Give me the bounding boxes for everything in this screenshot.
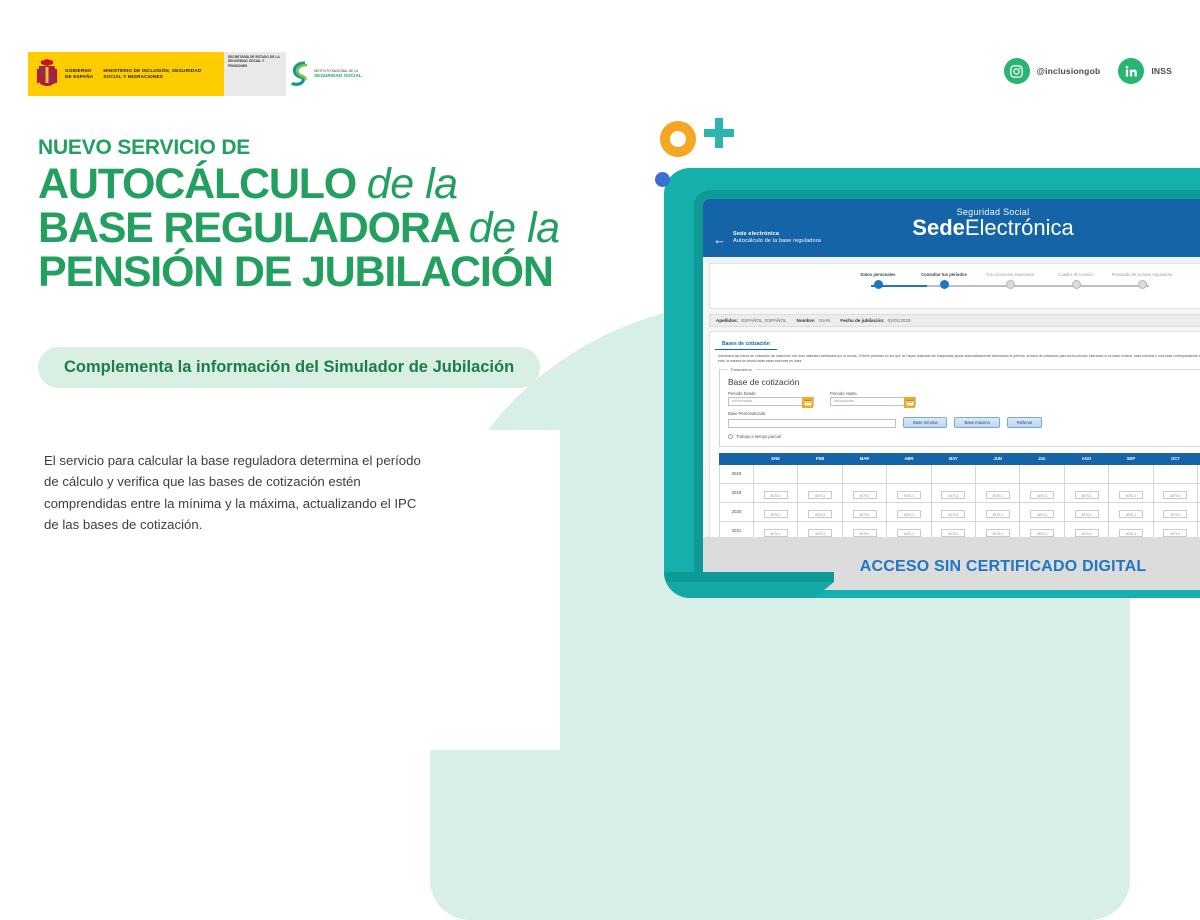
rellenar-button[interactable]: Rellenar — [1007, 417, 1043, 428]
column-header-abr: ABR — [887, 453, 931, 464]
base-amount-input[interactable]: 4070,1 — [808, 529, 832, 537]
column-header-jun: JUN — [976, 453, 1020, 464]
base-personalizada-group: Base Personalizada Base mínima Base máxi… — [728, 411, 1200, 428]
footer-banner-text: ACCESO SIN CERTIFICADO DIGITAL — [860, 558, 1147, 576]
app-header: Seguridad Social SedeElectrónica ← Sede … — [703, 199, 1200, 257]
table-cell-month[interactable]: 4070,1 — [798, 483, 842, 502]
base-amount-input[interactable]: 4070,1 — [897, 529, 921, 537]
breadcrumb-text: Sede electrónica Autocálculo de la base … — [733, 231, 821, 244]
base-amount-input[interactable]: 4070,1 — [897, 510, 921, 518]
base-amount-input[interactable]: 4070,1 — [1030, 510, 1054, 518]
table-cell-month[interactable] — [1109, 464, 1153, 483]
column-header-jul: JUL — [1020, 453, 1064, 464]
periodo-desde-group: Periodo Desde dd/mm/aaaa — [728, 391, 814, 406]
tiempo-parcial-label: Trabajo a tiempo parcial — [736, 434, 781, 439]
headline-2-bold: BASE REGULADORA — [38, 204, 458, 252]
table-cell-month[interactable]: 4070,1 — [842, 502, 886, 521]
brand-electronica: Electrónica — [965, 215, 1074, 240]
step-label-1[interactable]: Consultar tus periodos — [911, 272, 977, 277]
base-amount-input[interactable]: 4070,1 — [853, 510, 877, 518]
base-personalizada-label: Base Personalizada — [728, 411, 1200, 416]
headline-3-bold: PENSIÓN DE JUBILACIÓN — [38, 248, 553, 296]
gov-logo-yellow-block: GOBIERNO DE ESPAÑA MINISTERIO DE INCLUSI… — [28, 52, 224, 96]
periodo-hasta-group: Periodo Hasta dd/mm/aaaa — [830, 391, 916, 406]
column-header-oct: OCT — [1153, 453, 1197, 464]
stepper-dot-slot-4 — [1109, 280, 1175, 289]
base-amount-input[interactable]: 4070,1 — [853, 529, 877, 537]
base-amount-input[interactable]: 4070,1 — [1119, 491, 1143, 499]
laptop-mockup: Seguridad Social SedeElectrónica ← Sede … — [664, 168, 1200, 598]
table-cell-month[interactable]: 4070,1 — [931, 502, 975, 521]
column-header-ene: ENE — [754, 453, 798, 464]
table-cell-month[interactable]: 4070,1 — [1109, 502, 1153, 521]
breadcrumb[interactable]: ← Sede electrónica Autocálculo de la bas… — [713, 231, 821, 246]
gov-line-2: DE ESPAÑA — [65, 74, 93, 80]
bases-cotizacion-section: Bases de cotización Introduzca las bases… — [709, 331, 1200, 566]
step-dot-2[interactable] — [1006, 280, 1015, 289]
headline-1-bold: AUTOCÁLCULO — [38, 160, 356, 208]
step-label-4[interactable]: Resultado de tu base reguladora — [1109, 272, 1175, 277]
seguridad-social-mark-icon — [289, 61, 311, 87]
instagram-icon[interactable] — [1004, 58, 1030, 84]
laptop-base-bottom — [664, 582, 834, 598]
linkedin-handle: INSS — [1151, 66, 1172, 76]
table-cell-month[interactable]: 4070,1 — [1064, 483, 1108, 502]
bases-table-head: ENE FEB MAR ABR MAY JUN JUL AGO SEP OC — [720, 453, 1200, 464]
app-body: Datos personales Consultar tus periodos … — [703, 263, 1200, 590]
calendar-icon[interactable] — [904, 397, 915, 408]
date-range-row: Periodo Desde dd/mm/aaaa — [728, 391, 1200, 406]
breadcrumb-level-1: Sede electrónica — [733, 231, 821, 237]
base-personalizada-row: Base mínima Base máxima Rellenar — [728, 417, 1200, 428]
column-header-mar: MAR — [842, 453, 886, 464]
table-cell-month[interactable]: 4070,1 — [976, 502, 1020, 521]
column-header-may: MAY — [931, 453, 975, 464]
base-cotizacion-fieldset: Parámetros Base de cotización Periodo De… — [719, 367, 1200, 447]
base-amount-input[interactable]: 4070,1 — [1075, 491, 1099, 499]
table-cell-month[interactable] — [1153, 464, 1197, 483]
fecha-value: 01/01/2023 — [888, 318, 911, 323]
calendar-icon[interactable] — [802, 397, 813, 408]
laptop-lid: Seguridad Social SedeElectrónica ← Sede … — [664, 168, 1200, 598]
table-cell-month[interactable]: 4070,1 — [1020, 483, 1064, 502]
periodo-hasta-label: Periodo Hasta — [830, 391, 916, 396]
table-row: 20194070,14070,14070,14070,14070,14070,1… — [720, 483, 1200, 502]
laptop-base-top — [664, 572, 834, 582]
blue-dot-decoration — [655, 172, 670, 187]
base-amount-input[interactable]: 4070,1 — [808, 510, 832, 518]
laptop-bezel: Seguridad Social SedeElectrónica ← Sede … — [694, 190, 1200, 590]
brand-big-text: SedeElectrónica — [868, 216, 1118, 240]
table-cell-month[interactable]: 4070,1 — [1153, 483, 1197, 502]
periodo-desde-input[interactable]: dd/mm/aaaa — [728, 397, 814, 406]
step-dot-3[interactable] — [1072, 280, 1081, 289]
stepper-dots — [845, 280, 1175, 289]
column-header-sep: SEP — [1109, 453, 1153, 464]
step-label-3[interactable]: Cuadro de revisión — [1043, 272, 1109, 277]
stepper-track — [845, 280, 1175, 292]
stepper-labels: Datos personales Consultar tus periodos … — [845, 272, 1175, 277]
column-header-feb: FEB — [798, 453, 842, 464]
section-title: Bases de cotización — [715, 338, 777, 350]
breadcrumb-level-2: Autocálculo de la base reguladora — [733, 238, 821, 244]
instagram-handle: @inclusiongob — [1037, 66, 1101, 76]
ss-name-text: SEGURIDAD SOCIAL — [314, 73, 362, 79]
laptop-base — [664, 572, 834, 598]
base-amount-input[interactable]: 4070,1 — [941, 510, 965, 518]
fieldset-legend: Parámetros — [728, 367, 755, 372]
table-row: 20204070,14070,14070,14070,14070,14070,1… — [720, 502, 1200, 521]
stepper-dot-slot-0 — [845, 280, 911, 289]
periodo-desde-label: Periodo Desde — [728, 391, 814, 396]
table-cell-month[interactable] — [754, 464, 798, 483]
base-amount-input[interactable]: 4070,1 — [1075, 529, 1099, 537]
base-amount-input[interactable]: 4070,1 — [941, 529, 965, 537]
table-cell-month[interactable]: 4070,1 — [1064, 502, 1108, 521]
base-minima-button[interactable]: Base mínima — [903, 417, 947, 428]
fecha-label: Fecha de jubilación: — [840, 318, 884, 323]
table-cell-month[interactable] — [887, 464, 931, 483]
orange-ring-decoration — [660, 121, 696, 157]
back-arrow-icon[interactable]: ← — [713, 233, 726, 246]
spain-coat-of-arms-icon — [34, 58, 60, 90]
table-row: 20184050,74070,1 — [720, 464, 1200, 483]
periodo-desde-value: dd/mm/aaaa — [732, 399, 752, 403]
headline-line-3: PENSIÓN DE JUBILACIÓN — [38, 251, 559, 295]
table-cell-month[interactable]: 4070,1 — [931, 483, 975, 502]
base-amount-input[interactable]: 4070,1 — [1075, 510, 1099, 518]
bases-table-body: 20184050,74070,120194070,14070,14070,140… — [720, 464, 1200, 540]
hero-eyebrow: NUEVO SERVICIO DE — [38, 136, 250, 160]
headline-line-1: AUTOCÁLCULO de la — [38, 163, 559, 207]
base-amount-input[interactable]: 4070,1 — [764, 529, 788, 537]
table-cell-month[interactable] — [976, 464, 1020, 483]
base-amount-input[interactable]: 4070,1 — [986, 510, 1010, 518]
gov-logo-text: GOBIERNO DE ESPAÑA — [65, 68, 93, 80]
social-links: @inclusiongob INSS — [1004, 58, 1172, 84]
headline-2-italic: de la — [469, 204, 560, 252]
base-amount-input[interactable]: 4070,1 — [853, 491, 877, 499]
table-cell-month[interactable]: 4070,1 — [976, 483, 1020, 502]
base-amount-input[interactable]: 4070,1 — [1119, 510, 1143, 518]
checkbox-box-icon[interactable] — [728, 434, 733, 439]
laptop-screen: Seguridad Social SedeElectrónica ← Sede … — [703, 199, 1200, 590]
base-amount-input[interactable]: 4070,1 — [1163, 491, 1187, 499]
table-cell-month[interactable] — [931, 464, 975, 483]
apellidos-label: Apellidos: — [716, 318, 738, 323]
base-amount-input[interactable]: 4070,1 — [764, 510, 788, 518]
periodo-hasta-input[interactable]: dd/mm/aaaa — [830, 397, 916, 406]
app-brand: Seguridad Social SedeElectrónica — [868, 207, 1118, 240]
headline-1-italic: de la — [367, 160, 458, 208]
base-amount-input[interactable]: 4070,1 — [1030, 491, 1054, 499]
table-cell-month[interactable] — [798, 464, 842, 483]
base-amount-input[interactable]: 4070,1 — [1163, 510, 1187, 518]
secretariat-text: SECRETARÍA DE ESTADO DE LA SEGURIDAD SOC… — [224, 52, 286, 96]
fieldset-title: Base de cotización — [728, 377, 1200, 387]
tiempo-parcial-checkbox[interactable]: Trabajo a tiempo parcial — [728, 434, 1200, 439]
teal-plus-decoration — [704, 118, 734, 148]
brand-small-text: Seguridad Social — [868, 207, 1118, 217]
seguridad-social-text: INSTITUTO NACIONAL DE LA SEGURIDAD SOCIA… — [314, 69, 362, 80]
ministry-text: MINISTERIO DE INCLUSIÓN, SEGURIDAD SOCIA… — [103, 68, 216, 80]
base-amount-input[interactable]: 4070,1 — [897, 491, 921, 499]
base-amount-input[interactable]: 4070,1 — [986, 491, 1010, 499]
section-note: Introduzca las bases de cotización de ca… — [710, 350, 1200, 367]
brand-sede: Sede — [912, 215, 965, 240]
bases-table: ENE FEB MAR ABR MAY JUN JUL AGO SEP OC — [719, 453, 1200, 541]
table-cell-month[interactable] — [1064, 464, 1108, 483]
table-cell-month[interactable]: 4070,1 — [887, 483, 931, 502]
base-amount-input[interactable]: 4070,1 — [941, 491, 965, 499]
base-amount-input[interactable]: 4070,1 — [1163, 529, 1187, 537]
stepper-dot-slot-3 — [1043, 280, 1109, 289]
table-cell-month[interactable]: 4070,1 — [1020, 502, 1064, 521]
headline-line-2: BASE REGULADORA de la — [38, 207, 559, 251]
linkedin-link[interactable]: INSS — [1118, 58, 1172, 84]
step-dot-4[interactable] — [1138, 280, 1147, 289]
table-cell-month[interactable] — [842, 464, 886, 483]
nombre-value: JUAN — [818, 318, 830, 323]
column-header-year — [720, 453, 754, 464]
base-maxima-button[interactable]: Base máxima — [954, 417, 999, 428]
periodo-hasta-value: dd/mm/aaaa — [834, 399, 854, 403]
base-amount-input[interactable]: 4070,1 — [986, 529, 1010, 537]
table-cell-year: 2019 — [720, 483, 754, 502]
table-cell-month[interactable] — [1020, 464, 1064, 483]
table-header-row: ENE FEB MAR ABR MAY JUN JUL AGO SEP OC — [720, 453, 1200, 464]
table-cell-month[interactable]: 4070,1 — [1109, 483, 1153, 502]
table-cell-year: 2020 — [720, 502, 754, 521]
fecha-jubilacion-field: Fecha de jubilación:01/01/2023 — [840, 318, 910, 323]
base-amount-input[interactable]: 4070,1 — [1030, 529, 1054, 537]
government-logo: GOBIERNO DE ESPAÑA MINISTERIO DE INCLUSI… — [28, 52, 372, 96]
apellidos-value: ESPAÑOL, ESPAÑOL — [741, 318, 786, 323]
nombre-label: Nombre: — [797, 318, 816, 323]
table-cell-month[interactable]: 4070,1 — [798, 502, 842, 521]
column-header-ago: AGO — [1064, 453, 1108, 464]
base-amount-input[interactable]: 4070,1 — [1119, 529, 1143, 537]
nombre-field: Nombre:JUAN — [797, 318, 831, 323]
page-title: AUTOCÁLCULO de la BASE REGULADORA de la … — [38, 163, 559, 295]
stepper-dot-slot-1 — [911, 280, 977, 289]
base-amount-input[interactable]: 4070,1 — [808, 491, 832, 499]
table-cell-year: 2018 — [720, 464, 754, 483]
table-cell-month[interactable]: 4070,1 — [887, 502, 931, 521]
stepper-card: Datos personales Consultar tus periodos … — [709, 263, 1200, 309]
table-cell-month[interactable]: 4070,1 — [1153, 502, 1197, 521]
stepper-dot-slot-2 — [977, 280, 1043, 289]
step-dot-0[interactable] — [874, 280, 883, 289]
hero-paragraph: El servicio para calcular la base regula… — [44, 450, 434, 536]
apellidos-field: Apellidos:ESPAÑOL, ESPAÑOL — [716, 318, 787, 323]
instagram-link[interactable]: @inclusiongob — [1004, 58, 1101, 84]
subtitle-pill: Complementa la información del Simulador… — [38, 347, 540, 388]
step-label-0[interactable]: Datos personales — [845, 272, 911, 277]
person-info-bar: Apellidos:ESPAÑOL, ESPAÑOL Nombre:JUAN F… — [709, 314, 1200, 327]
linkedin-icon[interactable] — [1118, 58, 1144, 84]
step-label-2[interactable]: Tus convenios especiales — [977, 272, 1043, 277]
step-dot-1[interactable] — [940, 280, 949, 289]
base-personalizada-input[interactable] — [728, 419, 896, 428]
table-cell-month[interactable]: 4070,1 — [754, 502, 798, 521]
table-cell-month[interactable]: 4070,1 — [754, 483, 798, 502]
progress-stepper: Datos personales Consultar tus periodos … — [845, 272, 1175, 292]
table-cell-month[interactable]: 4070,1 — [842, 483, 886, 502]
base-amount-input[interactable]: 4070,1 — [764, 491, 788, 499]
seguridad-social-logo: INSTITUTO NACIONAL DE LA SEGURIDAD SOCIA… — [286, 52, 372, 96]
